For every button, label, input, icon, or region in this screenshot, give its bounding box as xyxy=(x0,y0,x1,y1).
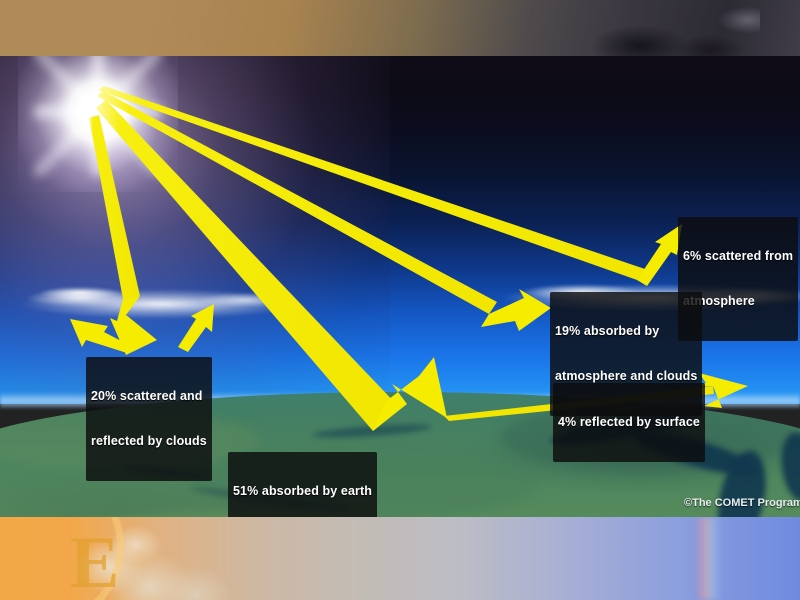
arrow-scatter-right xyxy=(178,304,214,352)
label-line-2: atmosphere and clouds xyxy=(555,369,697,384)
label-absorbed-earth: 51% absorbed by earth xyxy=(228,452,377,517)
label-line-1: 6% scattered from xyxy=(683,249,793,264)
label-reflected-surface: 4% reflected by surface xyxy=(553,383,705,462)
background-letter-e: E xyxy=(70,526,129,600)
label-line-1: 20% scattered and xyxy=(91,389,207,404)
label-line-1: 19% absorbed by xyxy=(555,324,697,339)
screenshot-stage: E xyxy=(0,0,800,600)
label-line-1: 51% absorbed by earth xyxy=(233,484,372,499)
background-bottom-band: E xyxy=(0,517,800,600)
rainbow-shape xyxy=(696,517,722,600)
storm-cloud-shape xyxy=(580,0,760,56)
background-top-band xyxy=(0,0,800,56)
copyright-notice: ©The COMET Program xyxy=(684,497,800,509)
label-scattered-clouds: 20% scattered and reflected by clouds xyxy=(86,357,212,481)
arrow-6-percent-scattered xyxy=(637,224,682,286)
label-line-2: reflected by clouds xyxy=(91,434,207,449)
label-line-1: 4% reflected by surface xyxy=(558,415,700,430)
radiation-budget-figure: 6% scattered from atmosphere 19% absorbe… xyxy=(0,56,800,517)
